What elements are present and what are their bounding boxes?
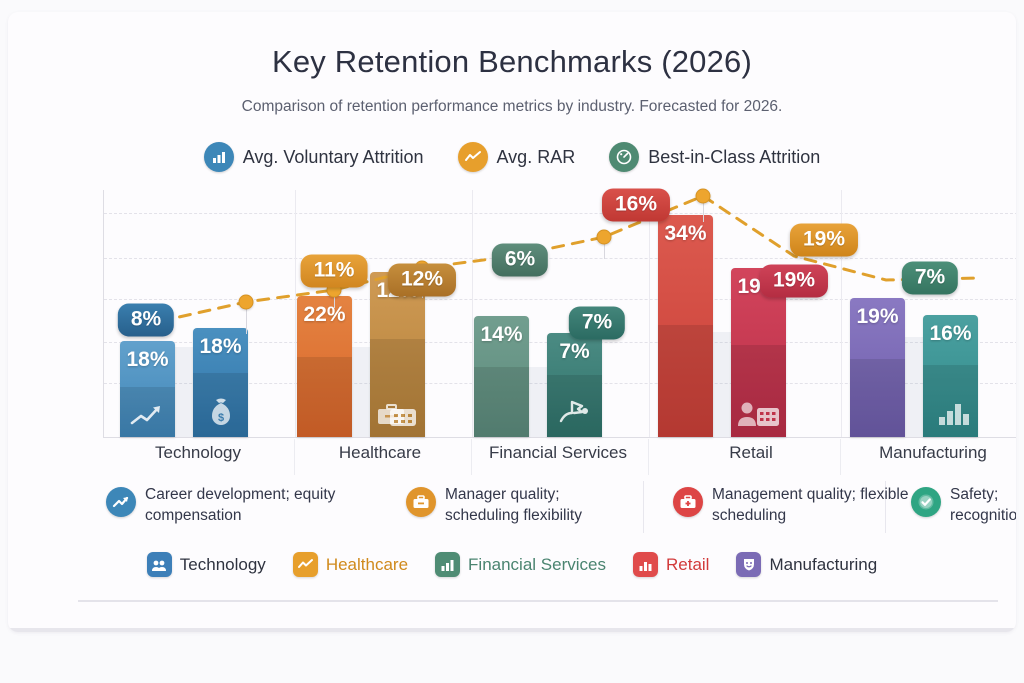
legend-item-avg-rar[interactable]: Avg. RAR: [458, 142, 576, 172]
rar-marker[interactable]: [239, 295, 254, 310]
driver-text: Safety; recognition;: [950, 485, 1016, 527]
legend-label: Manufacturing: [769, 555, 877, 575]
check-circle-icon: [911, 487, 941, 517]
bar-chart-icon: [204, 142, 234, 172]
status-badge-manufacturing-rar: 19%: [790, 224, 858, 257]
driver-item-healthcare: Manager quality; scheduling flexibility: [406, 485, 630, 527]
x-tick-retail: Retail: [729, 443, 772, 463]
x-tick-manufacturing: Manufacturing: [879, 443, 987, 463]
driver-text: Management quality; flexible scheduling: [712, 485, 912, 527]
status-badge-retail-best: 19%: [760, 265, 828, 298]
trending-up-icon: [106, 487, 136, 517]
x-separator: [294, 439, 295, 475]
legend-item-healthcare[interactable]: Healthcare: [293, 552, 408, 577]
people-icon: [147, 552, 172, 577]
bar-chart-icon: [633, 552, 658, 577]
status-badge-technology-rar: 8%: [118, 304, 174, 337]
first-aid-kit-icon: [673, 487, 703, 517]
x-axis-labels: Technology Healthcare Financial Services…: [103, 439, 1016, 475]
briefcase-icon: [406, 487, 436, 517]
metric-legend: Avg. Voluntary Attrition Avg. RAR Best-i…: [8, 142, 1016, 172]
industry-legend: Technology Healthcare Financial Services…: [8, 552, 1016, 577]
legend-item-best-in-class[interactable]: Best-in-Class Attrition: [609, 142, 820, 172]
driver-annotations: Career development; equity compensation …: [103, 479, 1016, 539]
x-separator: [840, 439, 841, 475]
legend-label: Retail: [666, 555, 709, 575]
status-badge-healthcare-rar: 11%: [301, 255, 368, 288]
legend-label: Best-in-Class Attrition: [648, 147, 820, 168]
page-title: Key Retention Benchmarks (2026): [8, 44, 1016, 80]
driver-item-manufacturing: Safety; recognition;: [911, 485, 1016, 527]
gauge-icon: [609, 142, 639, 172]
status-badge-financial-rar: 6%: [492, 244, 548, 277]
legend-item-financial-services[interactable]: Financial Services: [435, 552, 606, 577]
chart-screenshot: Key Retention Benchmarks (2026) Comparis…: [0, 0, 1024, 683]
chart-card: Key Retention Benchmarks (2026) Comparis…: [8, 12, 1016, 632]
shield-icon: [736, 552, 761, 577]
legend-label: Avg. RAR: [497, 147, 576, 168]
driver-text: Manager quality; scheduling flexibility: [445, 485, 630, 527]
driver-text: Career development; equity compensation: [145, 485, 383, 527]
bar-chart-icon: [435, 552, 460, 577]
plot-area: 40% 30% 20% 10% 8% 0% 18% 18%: [103, 190, 1016, 438]
driver-separator: [643, 481, 644, 533]
legend-item-retail[interactable]: Retail: [633, 552, 709, 577]
x-tick-financial-services: Financial Services: [489, 443, 627, 463]
legend-label: Technology: [180, 555, 266, 575]
avg-rar-line: [104, 190, 1016, 438]
legend-item-manufacturing[interactable]: Manufacturing: [736, 552, 877, 577]
status-badge-retail-rar: 16%: [602, 189, 670, 222]
line-wave-icon: [293, 552, 318, 577]
status-badge-healthcare-best: 12%: [388, 264, 456, 297]
driver-item-technology: Career development; equity compensation: [106, 485, 383, 527]
rar-marker[interactable]: [597, 230, 612, 245]
legend-label: Financial Services: [468, 555, 606, 575]
driver-item-retail: Management quality; flexible scheduling: [673, 485, 912, 527]
legend-item-voluntary-attrition[interactable]: Avg. Voluntary Attrition: [204, 142, 424, 172]
legend-item-technology[interactable]: Technology: [147, 552, 266, 577]
divider: [78, 600, 998, 602]
status-badge-financial-best: 7%: [569, 307, 625, 340]
x-separator: [648, 439, 649, 475]
legend-label: Avg. Voluntary Attrition: [243, 147, 424, 168]
legend-label: Healthcare: [326, 555, 408, 575]
x-tick-healthcare: Healthcare: [339, 443, 421, 463]
chart-subtitle: Comparison of retention performance metr…: [8, 98, 1016, 116]
line-wave-icon: [458, 142, 488, 172]
status-badge-manufacturing-best: 7%: [902, 262, 958, 295]
x-tick-technology: Technology: [155, 443, 241, 463]
x-separator: [471, 439, 472, 475]
rar-marker[interactable]: [696, 189, 711, 204]
